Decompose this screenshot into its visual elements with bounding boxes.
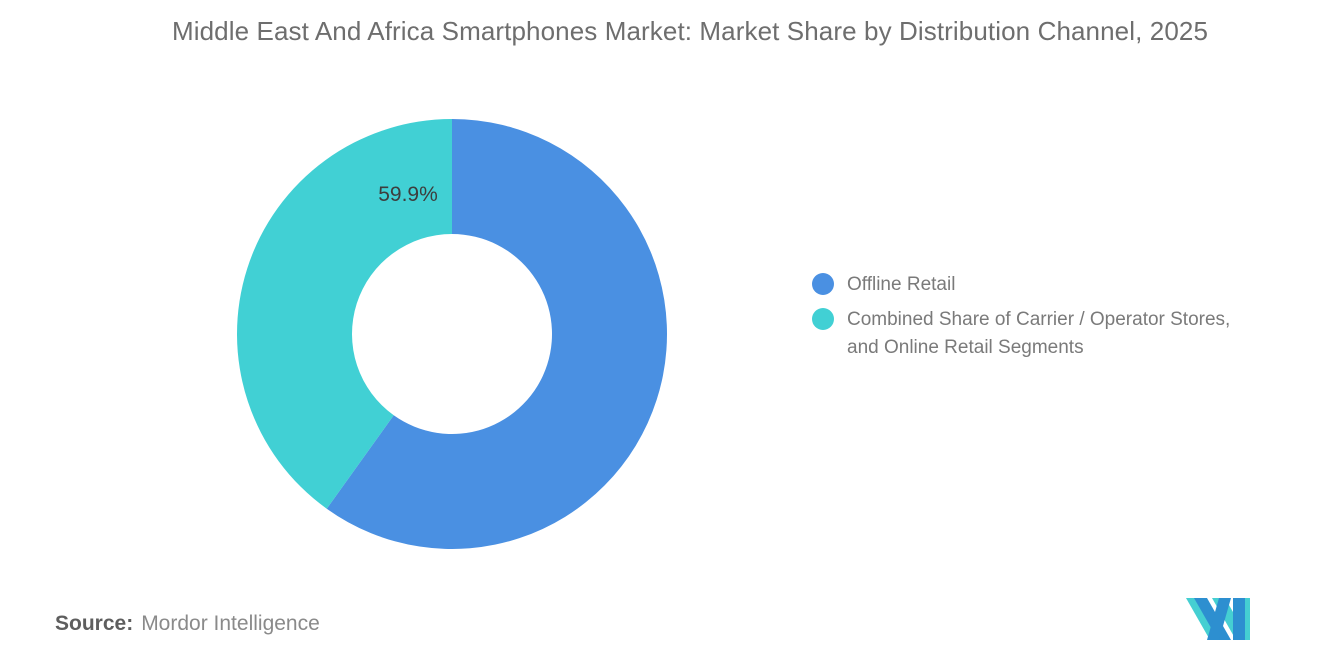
legend-item-combined-share[interactable]: Combined Share of Carrier / Operator Sto… [812,306,1242,362]
source-label: Source: [55,612,133,635]
chart-legend: Offline Retail Combined Share of Carrier… [812,271,1242,369]
chart-title: Middle East And Africa Smartphones Marke… [160,12,1220,50]
legend-swatch-icon-offline-retail [812,273,834,295]
legend-label-offline-retail: Offline Retail [847,271,955,299]
mordor-intelligence-logo-icon [1186,598,1250,640]
legend-label-combined-share: Combined Share of Carrier / Operator Sto… [847,306,1242,362]
legend-swatch-icon-combined-share [812,308,834,330]
donut-chart [237,119,667,549]
source-value: Mordor Intelligence [141,612,320,635]
source-line: Source:Mordor Intelligence [55,612,320,636]
legend-item-offline-retail[interactable]: Offline Retail [812,271,1242,299]
donut-chart-svg [237,119,667,549]
mordor-intelligence-logo [1186,598,1250,640]
